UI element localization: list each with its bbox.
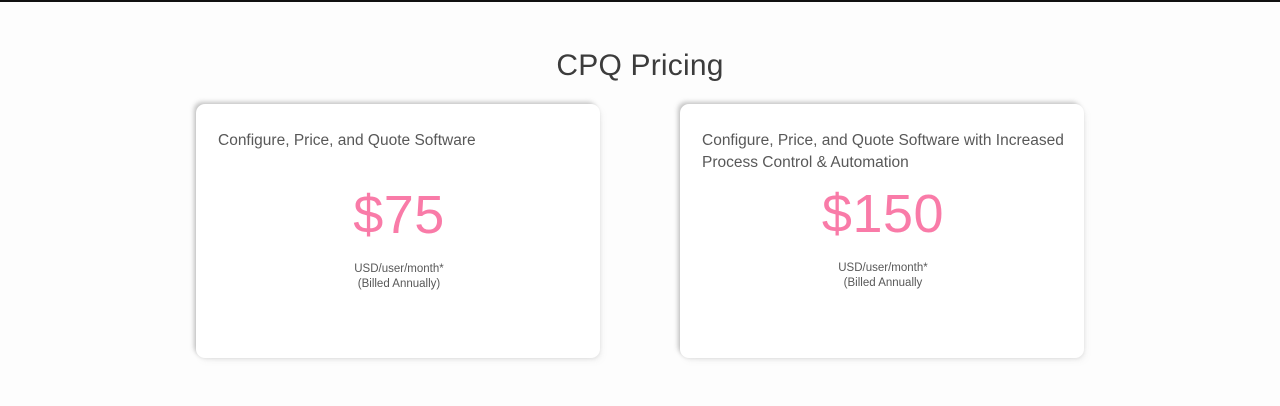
- top-divider-rule: [0, 0, 1280, 2]
- pricing-card-list: Configure, Price, and Quote Software $75…: [0, 104, 1280, 364]
- pricing-card-body: $150 USD/user/month* (Billed Annually: [702, 184, 1064, 291]
- pricing-card-unit: USD/user/month*: [702, 261, 1064, 276]
- pricing-card-price: $150: [702, 184, 1064, 244]
- pricing-card-billing: (Billed Annually): [218, 277, 580, 292]
- page-title: CPQ Pricing: [0, 44, 1280, 88]
- pricing-card-basic[interactable]: Configure, Price, and Quote Software $75…: [196, 104, 600, 358]
- pricing-card-note: USD/user/month* (Billed Annually): [218, 262, 580, 292]
- pricing-card-billing: (Billed Annually: [702, 276, 1064, 291]
- pricing-card-body: $75 USD/user/month* (Billed Annually): [218, 185, 580, 292]
- pricing-card-advanced[interactable]: Configure, Price, and Quote Software wit…: [680, 104, 1084, 358]
- pricing-card-title: Configure, Price, and Quote Software wit…: [702, 130, 1064, 173]
- pricing-card-title: Configure, Price, and Quote Software: [218, 130, 580, 152]
- pricing-card-note: USD/user/month* (Billed Annually: [702, 261, 1064, 291]
- pricing-card-unit: USD/user/month*: [218, 262, 580, 277]
- pricing-card-price: $75: [218, 185, 580, 245]
